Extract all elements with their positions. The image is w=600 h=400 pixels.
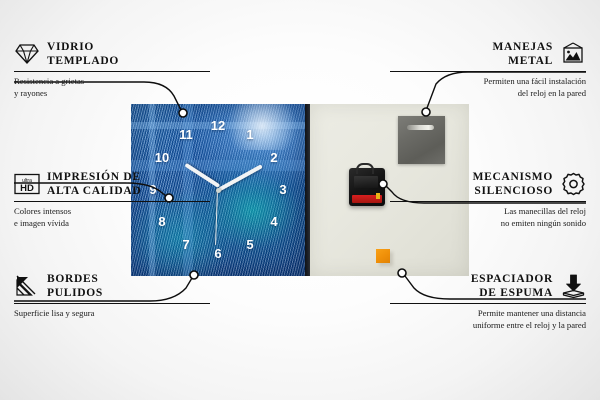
feature-callout-impresion-alta-calidad[interactable]: ultra HD IMPRESIÓN DE ALTA CALIDAD Color… <box>14 170 210 229</box>
battery-label <box>352 195 382 203</box>
callout-divider <box>14 303 210 304</box>
polished-edges-icon <box>14 273 40 299</box>
clock-numeral-11: 11 <box>176 128 196 141</box>
clock-numeral-2: 2 <box>264 151 284 164</box>
battery-tip <box>376 193 380 199</box>
clock-numeral-4: 4 <box>264 215 284 228</box>
svg-text:HD: HD <box>20 183 34 194</box>
clock-numeral-3: 3 <box>273 183 293 196</box>
callout-description: Permite mantener una distancia uniforme … <box>390 308 586 331</box>
second-hand <box>215 189 218 245</box>
callout-title: MECANISMO SILENCIOSO <box>473 170 553 198</box>
callout-divider <box>390 303 586 304</box>
callout-divider <box>14 201 210 202</box>
metal-hanger-plate <box>398 116 445 164</box>
callout-header: ESPACIADOR DE ESPUMA <box>390 272 586 300</box>
down-arrow-pad-icon <box>560 273 586 299</box>
callout-divider <box>390 71 586 72</box>
callout-divider <box>390 201 586 202</box>
minute-hand <box>218 164 263 191</box>
feature-callout-bordes-pulidos[interactable]: BORDES PULIDOS Superficie lisa y segura <box>14 272 210 320</box>
feature-callout-mecanismo-silencioso[interactable]: MECANISMO SILENCIOSO Las manecillas del … <box>390 170 586 229</box>
infographic-canvas: 12 1 2 3 4 5 6 7 8 9 10 11 <box>0 0 600 400</box>
mechanism-detail <box>354 176 378 188</box>
callout-title: VIDRIO TEMPLADO <box>47 40 119 68</box>
clock-numeral-12: 12 <box>208 119 228 132</box>
callout-header: BORDES PULIDOS <box>14 272 210 300</box>
callout-header: MECANISMO SILENCIOSO <box>390 170 586 198</box>
callout-description: Las manecillas del reloj no emiten ningú… <box>390 206 586 229</box>
clock-numeral-10: 10 <box>152 151 172 164</box>
hand-center-cap <box>216 188 221 193</box>
ultra-hd-icon: ultra HD <box>14 171 40 197</box>
clock-numeral-7: 7 <box>176 238 196 251</box>
clock-numeral-6: 6 <box>208 247 228 260</box>
artwork-highlight <box>227 104 297 150</box>
callout-header: ultra HD IMPRESIÓN DE ALTA CALIDAD <box>14 170 210 198</box>
diamond-icon <box>14 41 40 67</box>
callout-title: ESPACIADOR DE ESPUMA <box>471 272 553 300</box>
clock-numeral-5: 5 <box>240 238 260 251</box>
hanger-slot <box>407 125 434 130</box>
mechanism-hanger-loop <box>356 163 374 174</box>
gear-icon <box>560 171 586 197</box>
feature-callout-espaciador-espuma[interactable]: ESPACIADOR DE ESPUMA Permite mantener un… <box>390 272 586 331</box>
callout-header: VIDRIO TEMPLADO <box>14 40 210 68</box>
callout-title: MANEJAS METAL <box>493 40 554 68</box>
callout-description: Permiten una fácil instalación del reloj… <box>390 76 586 99</box>
callout-description: Colores intensos e imagen vívida <box>14 206 210 229</box>
clock-numeral-1: 1 <box>240 128 260 141</box>
callout-title: BORDES PULIDOS <box>47 272 103 300</box>
callout-description: Resistencia a grietas y rayones <box>14 76 210 99</box>
callout-divider <box>14 71 210 72</box>
callout-header: MANEJAS METAL <box>390 40 586 68</box>
callout-title: IMPRESIÓN DE ALTA CALIDAD <box>47 170 141 198</box>
feature-callout-vidrio-templado[interactable]: VIDRIO TEMPLADO Resistencia a grietas y … <box>14 40 210 99</box>
foam-spacer <box>376 249 390 263</box>
feature-callout-manejas-metal[interactable]: MANEJAS METAL Permiten una fácil instala… <box>390 40 586 99</box>
callout-description: Superficie lisa y segura <box>14 308 210 319</box>
wall-frame-icon <box>560 41 586 67</box>
